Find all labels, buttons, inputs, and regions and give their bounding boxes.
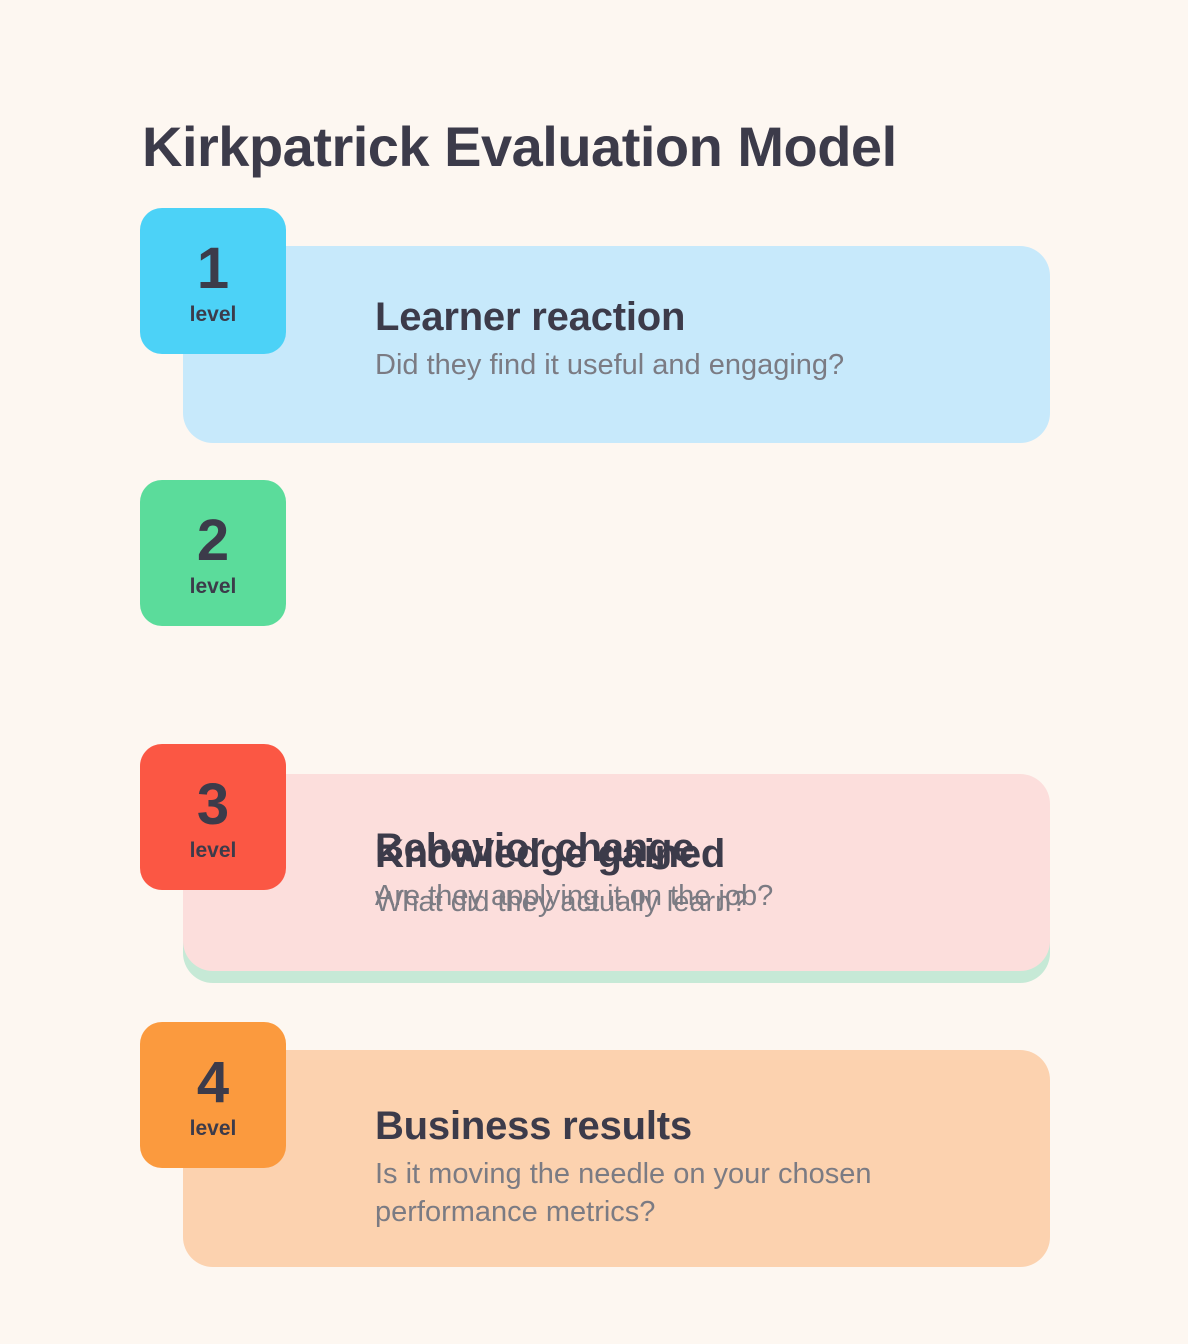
page-title: Kirkpatrick Evaluation Model — [142, 116, 897, 178]
level-number-1: 1 — [197, 241, 229, 296]
level-badge-1: 1 level — [140, 208, 286, 354]
level-list: 1 level Learner reaction Did they find i… — [0, 200, 1188, 1272]
level-badge-3: 3 level — [140, 744, 286, 890]
level-caption-3: level — [190, 840, 237, 861]
level-subtext-1: Did they find it useful and engaging? — [375, 346, 844, 385]
level-number-3: 3 — [197, 777, 229, 832]
level-text-1: Learner reaction Did they find it useful… — [375, 295, 844, 384]
list-item: 4 level Business results Is it moving th… — [0, 1004, 1188, 1272]
level-badge-2: 2 level — [140, 480, 286, 626]
level-text-4: Business results Is it moving the needle… — [375, 1104, 935, 1232]
list-item: 3 level Behavior change Are they applyin… — [0, 736, 1188, 1004]
level-heading-3: Behavior change — [375, 826, 773, 871]
level-number-4: 4 — [197, 1055, 229, 1110]
level-caption-1: level — [190, 304, 237, 325]
kirkpatrick-model-poster: Kirkpatrick Evaluation Model 1 level Lea… — [0, 0, 1188, 1344]
level-caption-4: level — [190, 1118, 237, 1139]
level-caption-2: level — [190, 576, 237, 597]
level-text-3: Behavior change Are they applying it on … — [375, 826, 773, 915]
level-subtext-3: Are they applying it on the job? — [375, 877, 773, 916]
level-number-2: 2 — [197, 513, 229, 568]
list-item: 1 level Learner reaction Did they find i… — [0, 200, 1188, 468]
level-heading-1: Learner reaction — [375, 295, 844, 340]
level-badge-4: 4 level — [140, 1022, 286, 1168]
level-subtext-4: Is it moving the needle on your chosen p… — [375, 1155, 935, 1232]
list-item: 2 level Knowledge gained What did they a… — [0, 468, 1188, 736]
level-heading-4: Business results — [375, 1104, 935, 1149]
